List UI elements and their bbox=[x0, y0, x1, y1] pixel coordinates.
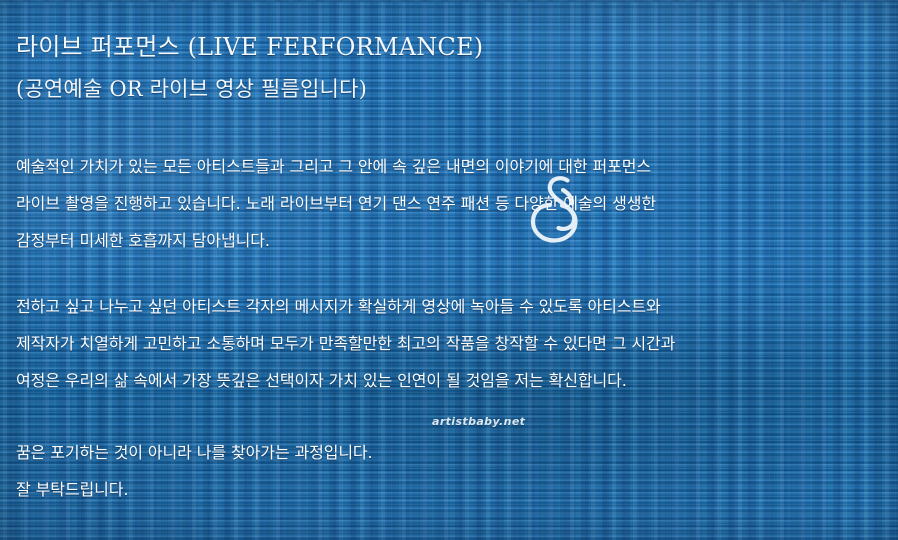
page-title: 라이브 퍼포먼스 (LIVE FERFORMANCE) bbox=[16, 32, 483, 63]
poster-canvas: 라이브 퍼포먼스 (LIVE FERFORMANCE) (공연예술 OR 라이브… bbox=[0, 0, 898, 540]
site-watermark: artistbaby.net bbox=[432, 415, 525, 428]
paragraph-line: 감정부터 미세한 호흡까지 담아냅니다. bbox=[16, 222, 656, 259]
poster-content: 라이브 퍼포먼스 (LIVE FERFORMANCE) (공연예술 OR 라이브… bbox=[0, 0, 898, 540]
paragraph-line: 여정은 우리의 삶 속에서 가장 뜻깊은 선택이자 가치 있는 인연이 될 것임… bbox=[16, 362, 675, 399]
page-subtitle: (공연예술 OR 라이브 영상 필름입니다) bbox=[16, 75, 483, 103]
paragraph-line: 꿈은 포기하는 것이 아니라 나를 찾아가는 과정입니다. bbox=[16, 434, 373, 471]
body-paragraph-1: 예술적인 가치가 있는 모든 아티스트들과 그리고 그 안에 속 깊은 내면의 … bbox=[16, 148, 656, 259]
paragraph-line: 잘 부탁드립니다. bbox=[16, 471, 373, 508]
paragraph-line: 전하고 싶고 나누고 싶던 아티스트 각자의 메시지가 확실하게 영상에 녹아들… bbox=[16, 288, 675, 325]
paragraph-line: 예술적인 가치가 있는 모든 아티스트들과 그리고 그 안에 속 깊은 내면의 … bbox=[16, 148, 656, 185]
body-paragraph-2: 전하고 싶고 나누고 싶던 아티스트 각자의 메시지가 확실하게 영상에 녹아들… bbox=[16, 288, 675, 399]
body-paragraph-3: 꿈은 포기하는 것이 아니라 나를 찾아가는 과정입니다. 잘 부탁드립니다. bbox=[16, 434, 373, 508]
heading-block: 라이브 퍼포먼스 (LIVE FERFORMANCE) (공연예술 OR 라이브… bbox=[16, 32, 483, 103]
paragraph-line: 라이브 촬영을 진행하고 있습니다. 노래 라이브부터 연기 댄스 연주 패션 … bbox=[16, 185, 656, 222]
paragraph-line: 제작자가 치열하게 고민하고 소통하며 모두가 만족할만한 최고의 작품을 창작… bbox=[16, 325, 675, 362]
